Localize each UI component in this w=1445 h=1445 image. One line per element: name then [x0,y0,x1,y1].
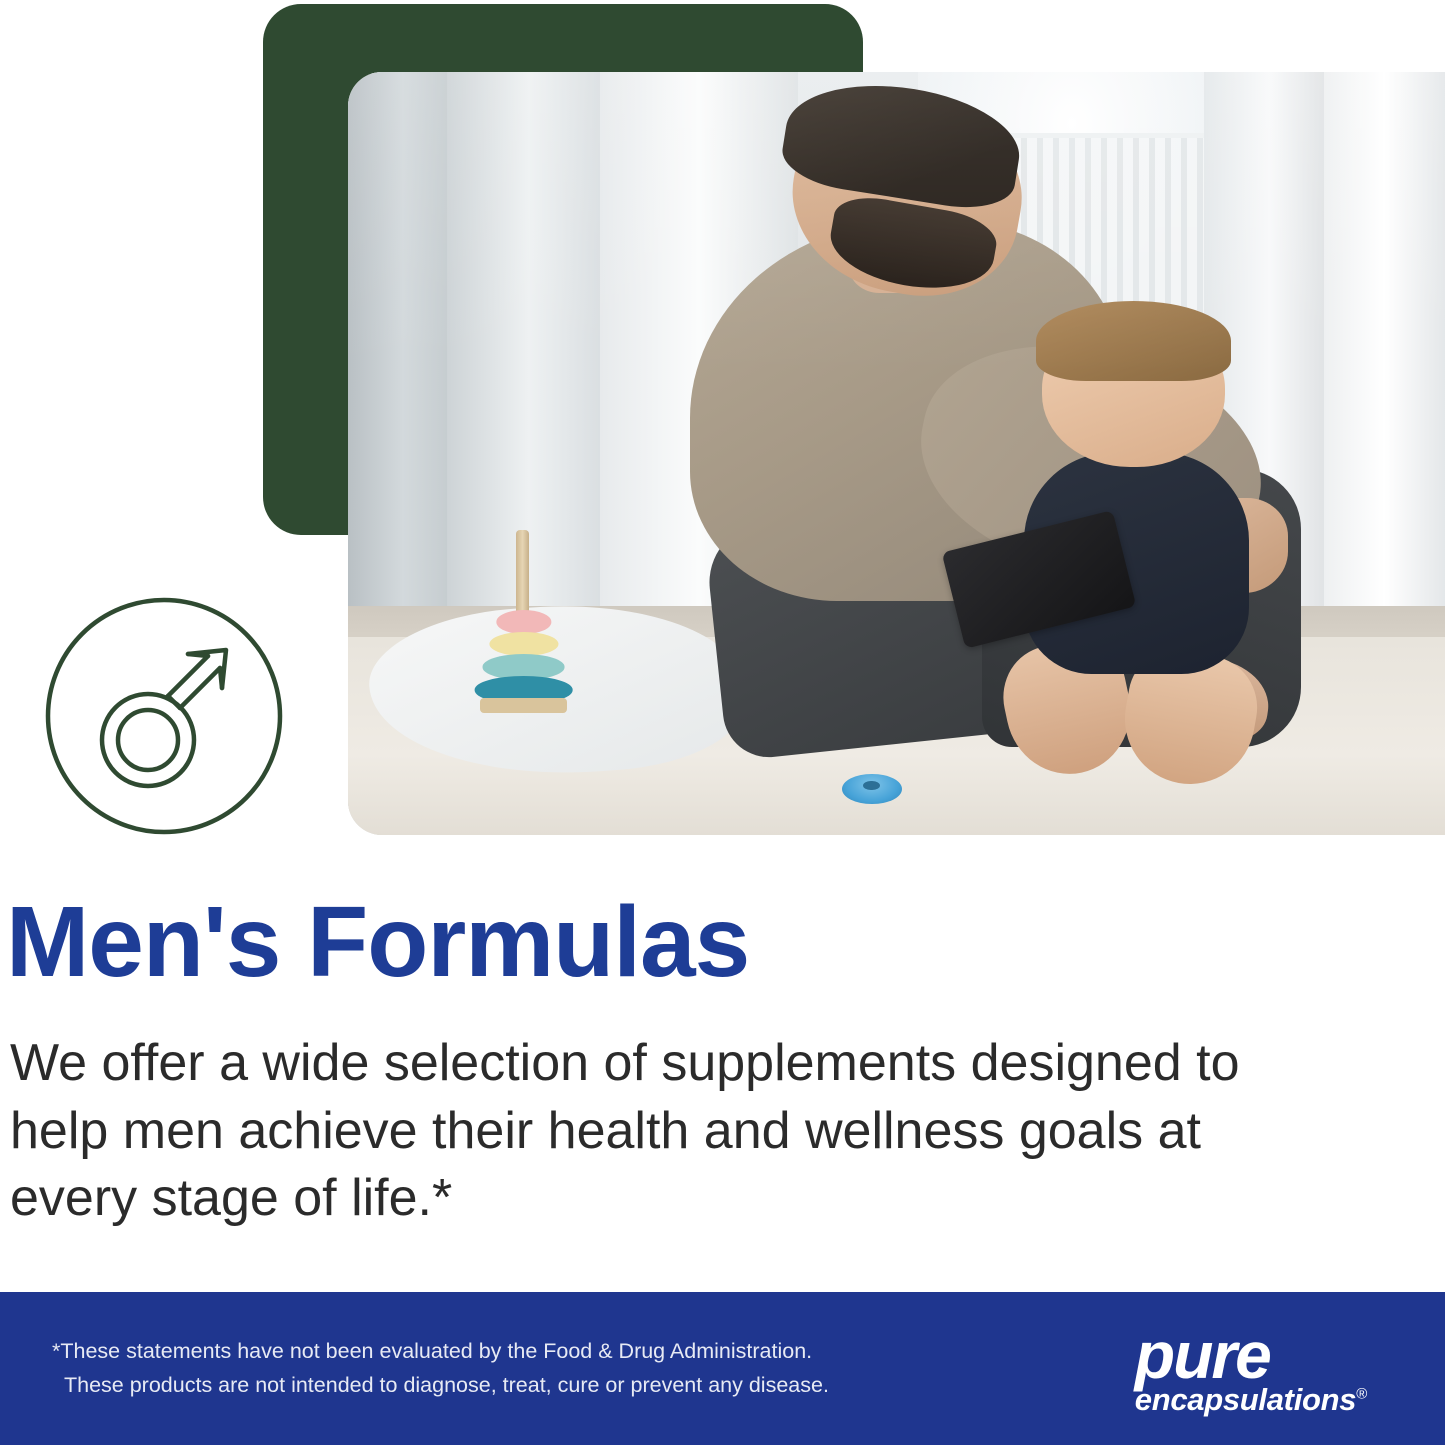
disclaimer-line-2: These products are not intended to diagn… [52,1369,829,1402]
footer-bar: *These statements have not been evaluate… [0,1292,1445,1445]
toy-ring-pink [496,610,551,634]
toy-ring-yellow [489,632,558,656]
registered-trademark-icon: ® [1356,1386,1367,1403]
description-line: help men achieve their health and wellne… [10,1098,1370,1166]
father-and-toddler-photo [348,72,1445,835]
fda-disclaimer: *These statements have not been evaluate… [52,1335,829,1402]
logo-wordmark-encapsulations: encapsulations® [1135,1384,1367,1415]
description-line: We offer a wide selection of supplements… [10,1030,1370,1098]
logo-encapsulations-text: encapsulations [1135,1382,1356,1417]
description-line: every stage of life.* [10,1165,1370,1233]
male-symbol-icon [40,592,288,840]
toddler-hair [1036,301,1231,382]
pure-encapsulations-logo: pure encapsulations® [1135,1322,1367,1415]
page-title: Men's Formulas [6,892,749,992]
toy-peg [516,530,530,618]
photo-scene [348,72,1445,835]
wooden-stacking-ring-toy [474,530,573,713]
toy-base [480,698,567,713]
disclaimer-line-1: *These statements have not been evaluate… [52,1339,812,1363]
product-category-banner: Men's Formulas We offer a wide selection… [0,0,1445,1445]
logo-wordmark-pure: pure [1135,1322,1367,1388]
description-text: We offer a wide selection of supplements… [10,1030,1370,1233]
